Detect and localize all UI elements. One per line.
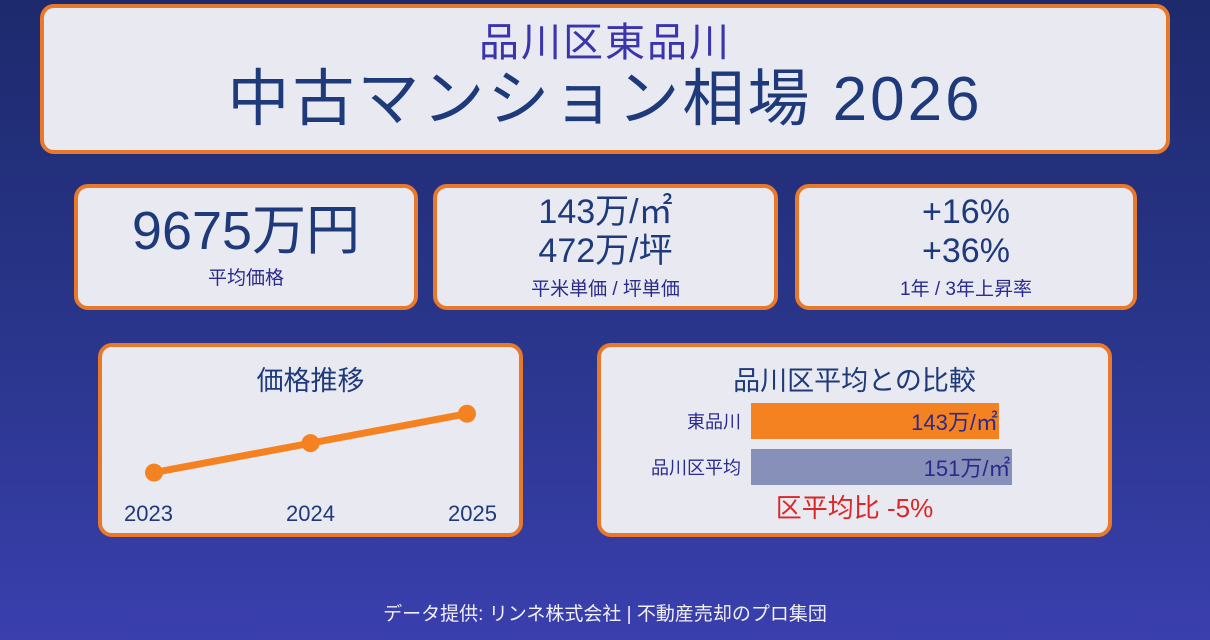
footer-credit: データ提供: リンネ株式会社 | 不動産売却のプロ集団 — [0, 599, 1210, 626]
stat-card-growth-rate: +16% +36% 1年 / 3年上昇率 — [795, 184, 1137, 310]
stat-label-unit-price: 平米単価 / 坪単価 — [531, 274, 680, 301]
year-label-1: 2024 — [286, 501, 335, 527]
bar-category-label-0: 東品川 — [601, 408, 751, 434]
ward-comparison-chart-title: 品川区平均との比較 — [601, 359, 1108, 398]
trend-point-2025 — [458, 405, 476, 423]
bar-row: 品川区平均 151万/㎡ — [601, 449, 1108, 485]
ward-comparison-annotation: 区平均比 -5% — [601, 488, 1108, 525]
trend-point-2023 — [145, 464, 163, 482]
bar-track-0: 143万/㎡ — [751, 403, 1108, 439]
bar-value-label-0: 143万/㎡ — [911, 405, 998, 437]
page-subtitle: 品川区東品川 — [479, 22, 731, 64]
stat-label-growth-rate: 1年 / 3年上昇率 — [900, 274, 1032, 301]
price-trend-chart: 価格推移 2023 2024 2025 — [98, 343, 523, 537]
page-title: 中古マンション相場 2026 — [227, 64, 982, 135]
stat-value-average-price: 9675万円 — [132, 204, 360, 259]
trend-point-2024 — [302, 434, 320, 452]
bar-track-1: 151万/㎡ — [751, 449, 1108, 485]
year-label-0: 2023 — [124, 501, 173, 527]
ward-comparison-chart: 品川区平均との比較 東品川 143万/㎡ 品川区平均 151万/㎡ 区平均比 -… — [597, 343, 1112, 537]
stat-value-3year: +36% — [922, 232, 1010, 270]
title-card: 品川区東品川 中古マンション相場 2026 — [40, 4, 1170, 154]
bar-row: 東品川 143万/㎡ — [601, 403, 1108, 439]
stat-value-per-sqm: 143万/㎡ — [538, 193, 672, 231]
bar-value-label-1: 151万/㎡ — [924, 451, 1011, 483]
stat-label-average-price: 平均価格 — [208, 263, 284, 290]
stat-card-average-price: 9675万円 平均価格 — [74, 184, 418, 310]
stat-card-unit-price: 143万/㎡ 472万/坪 平米単価 / 坪単価 — [433, 184, 778, 310]
year-label-2: 2025 — [448, 501, 497, 527]
stat-value-per-tsubo: 472万/坪 — [538, 232, 672, 270]
stat-value-1year: +16% — [922, 193, 1010, 231]
bar-category-label-1: 品川区平均 — [601, 454, 751, 480]
